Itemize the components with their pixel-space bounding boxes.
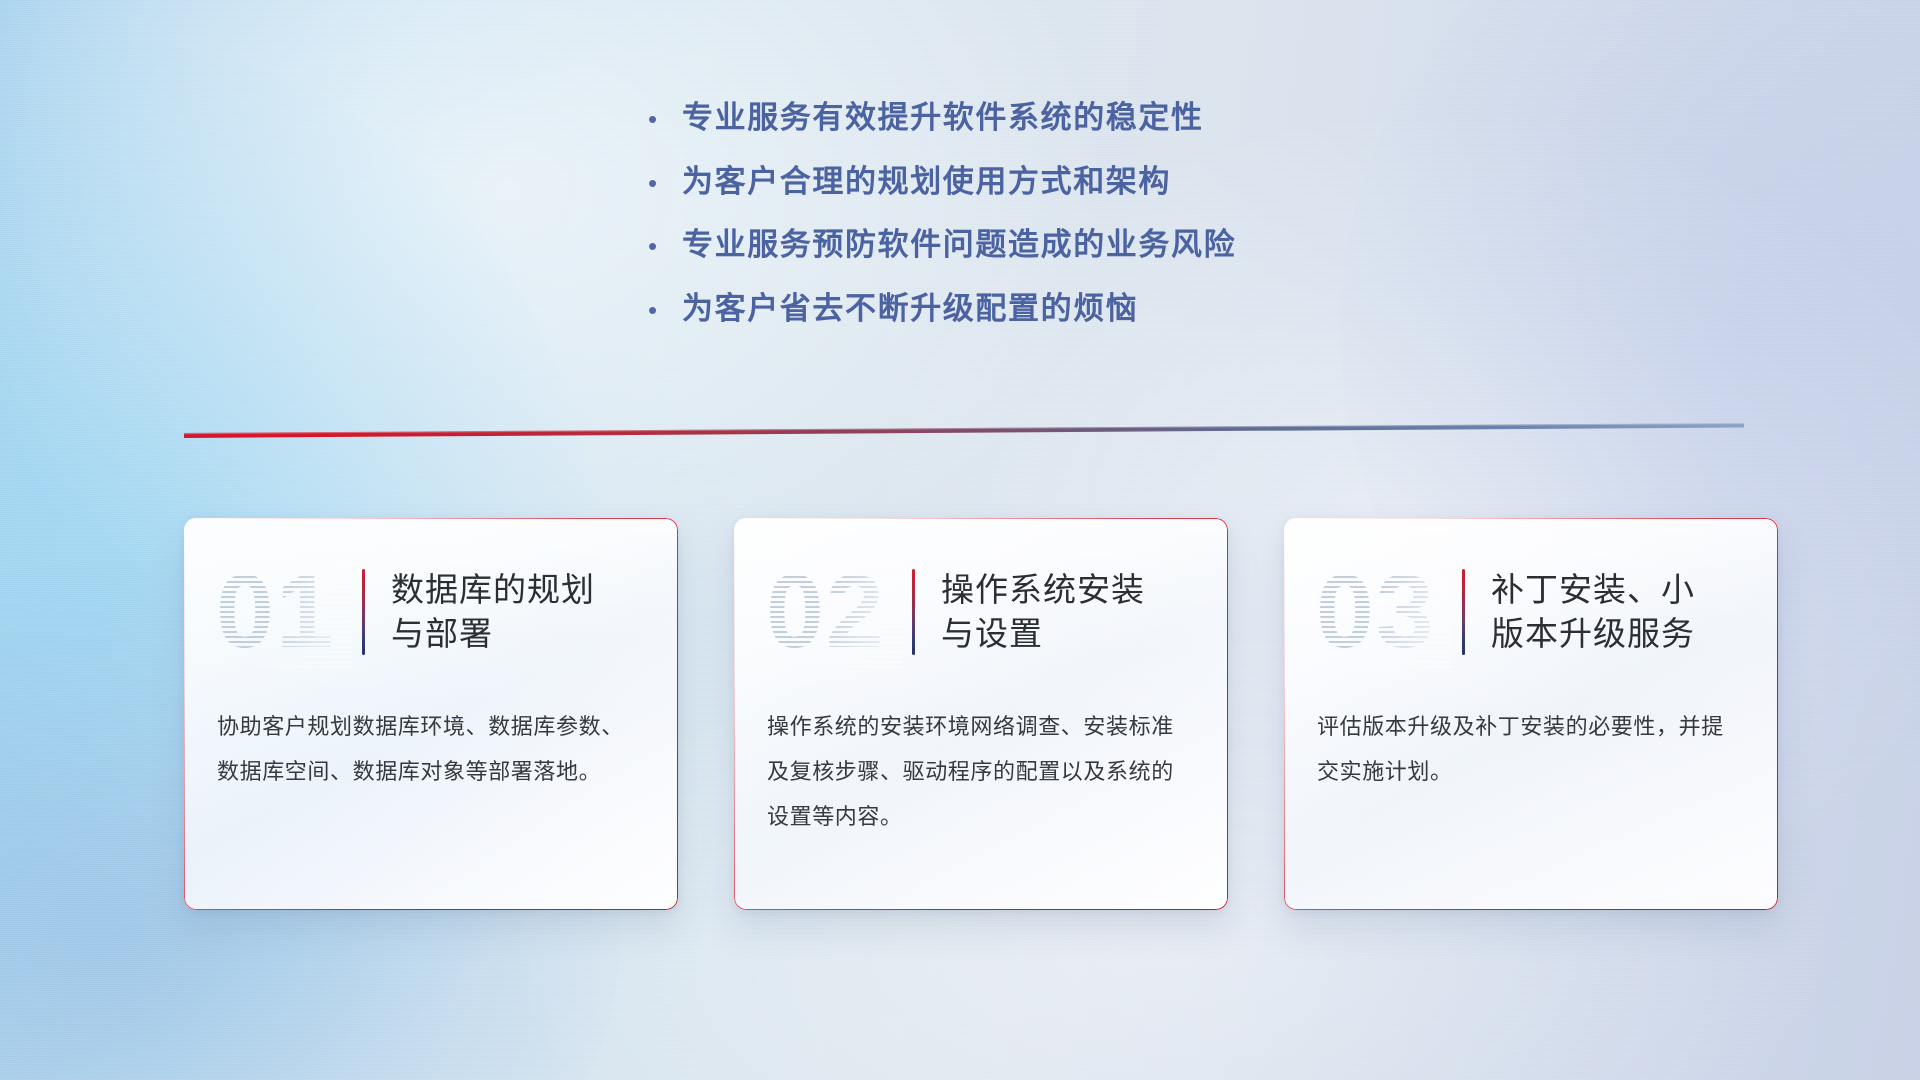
- card-divider-bar: [362, 569, 365, 655]
- section-divider-shape: [184, 420, 1744, 442]
- card-description: 操作系统的安装环境网络调查、安装标准及复核步骤、驱动程序的配置以及系统的设置等内…: [734, 678, 1228, 839]
- service-card[interactable]: 01 数据库的规划 与部署 协助客户规划数据库环境、数据库参数、数据库空间、数据…: [184, 518, 678, 910]
- service-card[interactable]: 03 补丁安装、小 版本升级服务 评估版本升级及补丁安装的必要性，并提交实施计划…: [1284, 518, 1778, 910]
- service-card[interactable]: 02 操作系统安装 与设置 操作系统的安装环境网络调查、安装标准及复核步骤、驱动…: [734, 518, 1228, 910]
- card-description: 评估版本升级及补丁安装的必要性，并提交实施计划。: [1284, 678, 1778, 794]
- bullet-item: • 为客户省去不断升级配置的烦恼: [648, 291, 1408, 328]
- bullet-item: • 专业服务预防软件问题造成的业务风险: [648, 227, 1408, 264]
- card-title: 数据库的规划 与部署: [391, 568, 595, 656]
- card-header: 03 补丁安装、小 版本升级服务: [1284, 518, 1778, 678]
- bullet-marker-icon: •: [648, 297, 682, 323]
- bullet-label: 专业服务有效提升软件系统的稳定性: [682, 100, 1204, 137]
- bullet-label: 为客户省去不断升级配置的烦恼: [682, 291, 1138, 328]
- bullet-marker-icon: •: [648, 170, 682, 196]
- bullet-label: 为客户合理的规划使用方式和架构: [682, 164, 1171, 201]
- bullet-marker-icon: •: [648, 106, 682, 132]
- card-step-number: 03: [1316, 556, 1452, 668]
- bullet-marker-icon: •: [648, 233, 682, 259]
- card-step-number: 02: [766, 556, 902, 668]
- bullet-label: 专业服务预防软件问题造成的业务风险: [682, 227, 1236, 264]
- bullet-item: • 专业服务有效提升软件系统的稳定性: [648, 100, 1408, 137]
- card-header: 01 数据库的规划 与部署: [184, 518, 678, 678]
- card-description: 协助客户规划数据库环境、数据库参数、数据库空间、数据库对象等部署落地。: [184, 678, 678, 794]
- slide-canvas: • 专业服务有效提升软件系统的稳定性 • 为客户合理的规划使用方式和架构 • 专…: [0, 0, 1920, 1080]
- card-title: 补丁安装、小 版本升级服务: [1491, 568, 1695, 656]
- card-header: 02 操作系统安装 与设置: [734, 518, 1228, 678]
- benefits-bullet-list: • 专业服务有效提升软件系统的稳定性 • 为客户合理的规划使用方式和架构 • 专…: [648, 100, 1408, 354]
- bullet-item: • 为客户合理的规划使用方式和架构: [648, 164, 1408, 201]
- service-card-list: 01 数据库的规划 与部署 协助客户规划数据库环境、数据库参数、数据库空间、数据…: [184, 518, 1780, 910]
- section-divider: [184, 420, 1744, 442]
- card-divider-bar: [1462, 569, 1465, 655]
- card-title: 操作系统安装 与设置: [941, 568, 1145, 656]
- card-step-number: 01: [216, 556, 352, 668]
- card-divider-bar: [912, 569, 915, 655]
